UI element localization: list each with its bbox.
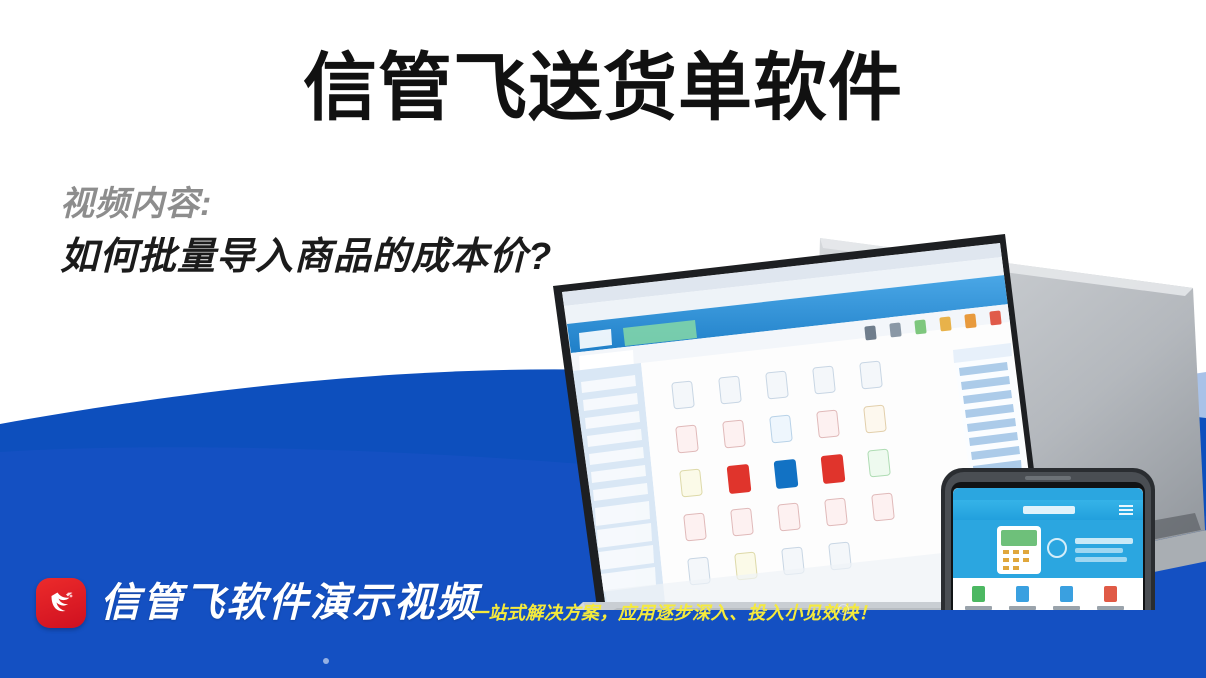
video-topic-question: 如何批量导入商品的成本价? bbox=[60, 232, 620, 282]
phone-device bbox=[941, 468, 1155, 610]
device-illustration bbox=[545, 230, 1206, 610]
subtitle-block: 视频内容: 如何批量导入商品的成本价? bbox=[60, 182, 620, 282]
brand-tagline: 一站式解决方案，应用逐步深入、投入小见效快！ bbox=[470, 601, 877, 625]
feather-swoosh-logo-icon bbox=[36, 578, 86, 628]
brand-lockup: 信管飞软件演示视频 bbox=[36, 578, 478, 628]
slide-canvas: 信管飞送货单软件 视频内容: 如何批量导入商品的成本价? bbox=[0, 0, 1206, 678]
dot-ring-right bbox=[838, 604, 849, 615]
phone-menu-icon bbox=[1119, 505, 1133, 515]
dot-solid-center bbox=[323, 658, 329, 664]
video-content-label: 视频内容: bbox=[60, 182, 620, 226]
brand-title: 信管飞软件演示视频 bbox=[100, 579, 478, 627]
page-title: 信管飞送货单软件 bbox=[0, 46, 1206, 130]
